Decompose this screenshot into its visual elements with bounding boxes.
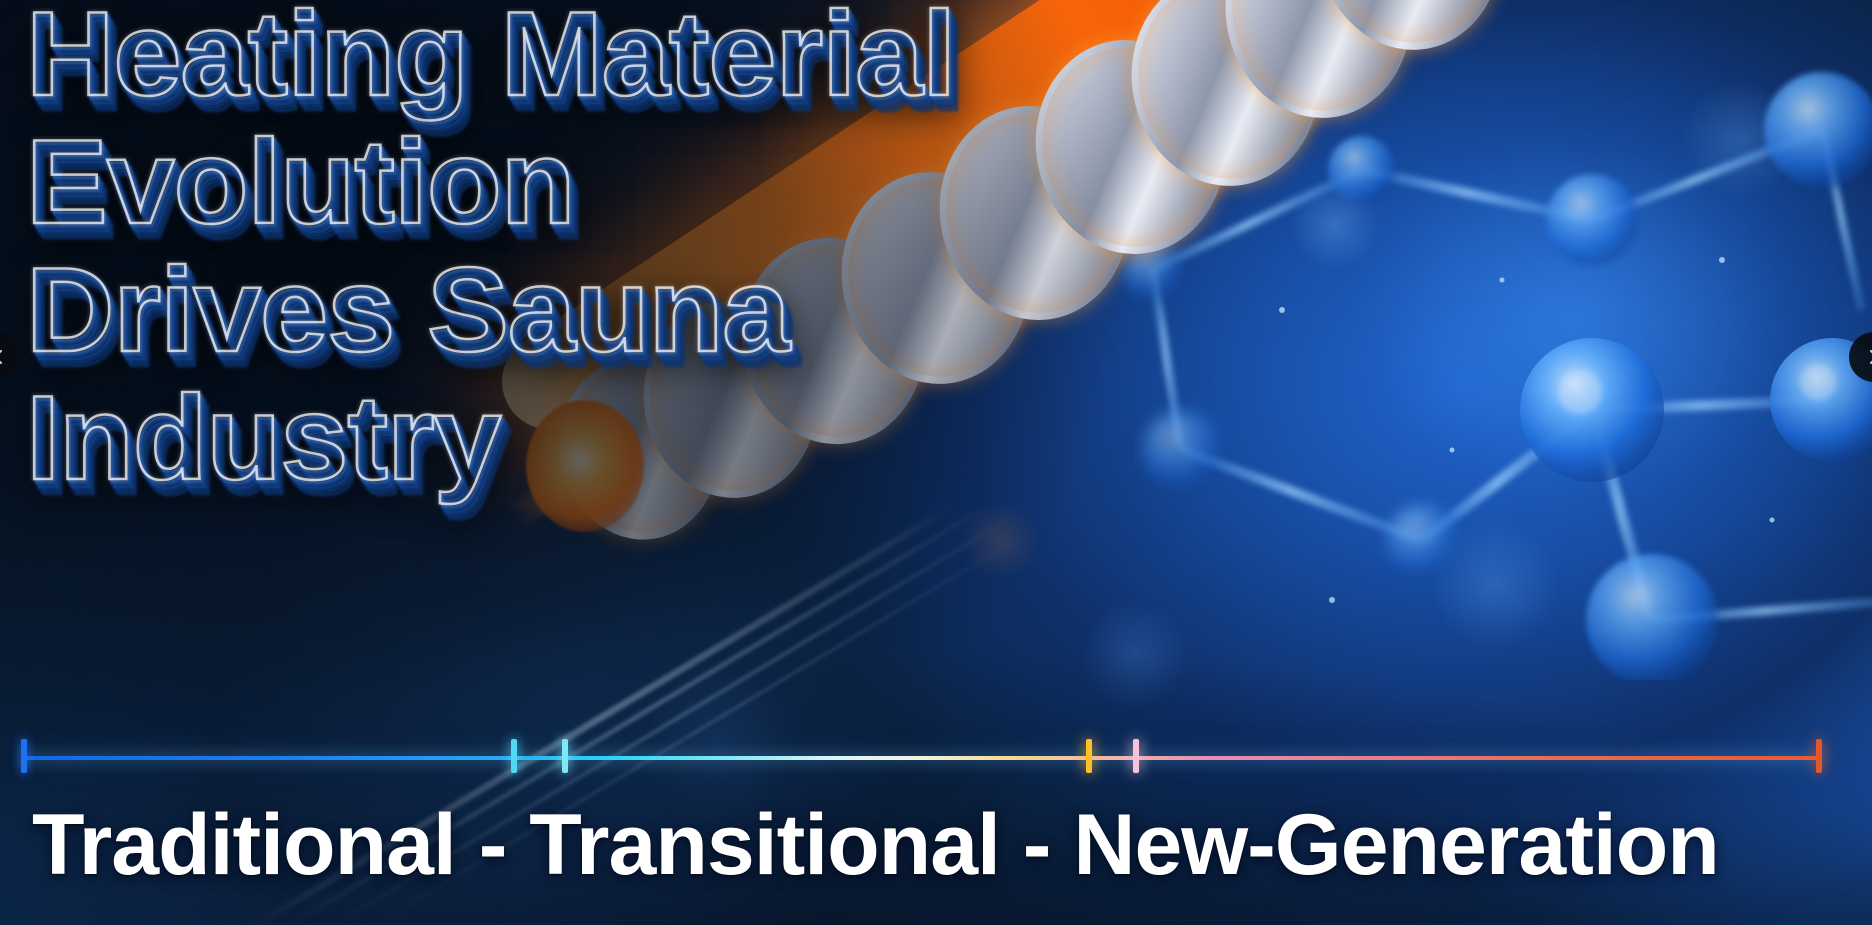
timeline-tick[interactable] xyxy=(1133,739,1139,773)
evolution-timeline xyxy=(0,753,1872,763)
title-line-3: Drives Sauna xyxy=(26,250,955,371)
timeline-tick[interactable] xyxy=(1086,739,1092,773)
title-line-4: Industry xyxy=(26,378,955,499)
timeline-tick[interactable] xyxy=(511,739,517,773)
timeline-caption: Traditional - Transitional - New-Generat… xyxy=(32,796,1719,895)
timeline-track xyxy=(22,756,1820,760)
hero-banner: Heating Material Evolution Drives Sauna … xyxy=(0,0,1872,925)
title-line-1: Heating Material xyxy=(26,0,955,115)
timeline-tick[interactable] xyxy=(1816,739,1822,773)
timeline-tick[interactable] xyxy=(21,739,27,773)
timeline-tick[interactable] xyxy=(562,739,568,773)
banner-title: Heating Material Evolution Drives Sauna … xyxy=(26,0,937,506)
chevron-left-icon xyxy=(0,348,7,366)
chevron-right-icon xyxy=(1865,348,1872,366)
title-line-2: Evolution xyxy=(26,122,955,243)
